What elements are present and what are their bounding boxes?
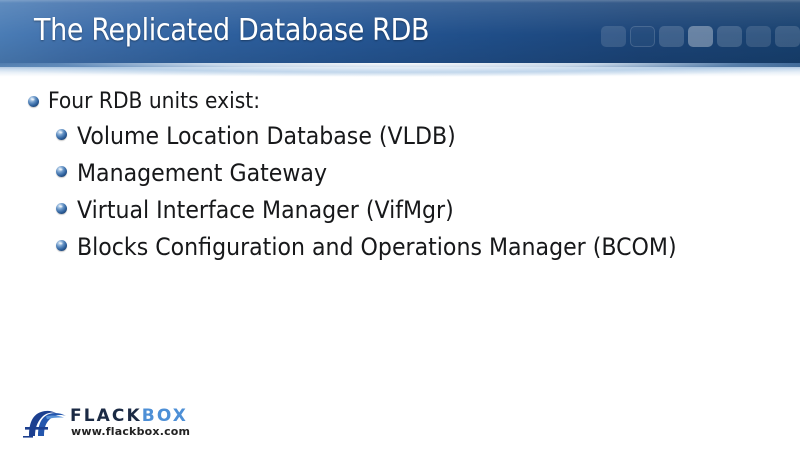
blue-sphere-bullet-icon: [56, 129, 67, 140]
list-item: Blocks Configuration and Operations Mana…: [56, 230, 800, 264]
wordmark-flack: FLACK: [70, 406, 142, 426]
list-item: Virtual Interface Manager (VifMgr): [56, 193, 800, 227]
decor-square-7-icon: [775, 26, 800, 47]
bullet-text: Virtual Interface Manager (VifMgr): [77, 193, 454, 227]
slide-title: The Replicated Database RDB: [34, 13, 429, 48]
decor-square-6-icon: [746, 26, 771, 47]
decor-square-1-icon: [601, 26, 626, 47]
decor-square-3-icon: [659, 26, 684, 47]
flackbox-swoosh-logo-icon: [22, 406, 68, 438]
bullet-text: Management Gateway: [77, 156, 327, 190]
bullet-text: Four RDB units exist:: [48, 88, 260, 116]
blue-sphere-bullet-icon: [56, 240, 67, 251]
wordmark-box: BOX: [142, 406, 188, 426]
flackbox-wordmark: FLACKBOX: [70, 407, 188, 425]
decor-square-2-icon: [630, 26, 655, 47]
decor-square-4-icon: [688, 26, 713, 47]
flackbox-logo: FLACKBOX www.flackbox.com: [22, 404, 202, 444]
list-item: Management Gateway: [56, 156, 800, 190]
decor-square-5-icon: [717, 26, 742, 47]
bullet-text: Blocks Configuration and Operations Mana…: [77, 230, 677, 264]
list-item: Volume Location Database (VLDB): [56, 119, 800, 153]
presentation-slide: The Replicated Database RDB Four RDB uni…: [0, 0, 800, 450]
slide-body: Four RDB units exist: Volume Location Da…: [0, 88, 800, 267]
header-decorative-squares: [601, 26, 800, 47]
list-item: Four RDB units exist:: [28, 88, 800, 116]
bullet-text: Volume Location Database (VLDB): [77, 119, 456, 153]
slide-header-band: The Replicated Database RDB: [0, 0, 800, 67]
blue-sphere-bullet-icon: [28, 96, 39, 107]
blue-sphere-bullet-icon: [56, 203, 67, 214]
blue-sphere-bullet-icon: [56, 166, 67, 177]
logo-url-text: www.flackbox.com: [71, 425, 190, 438]
